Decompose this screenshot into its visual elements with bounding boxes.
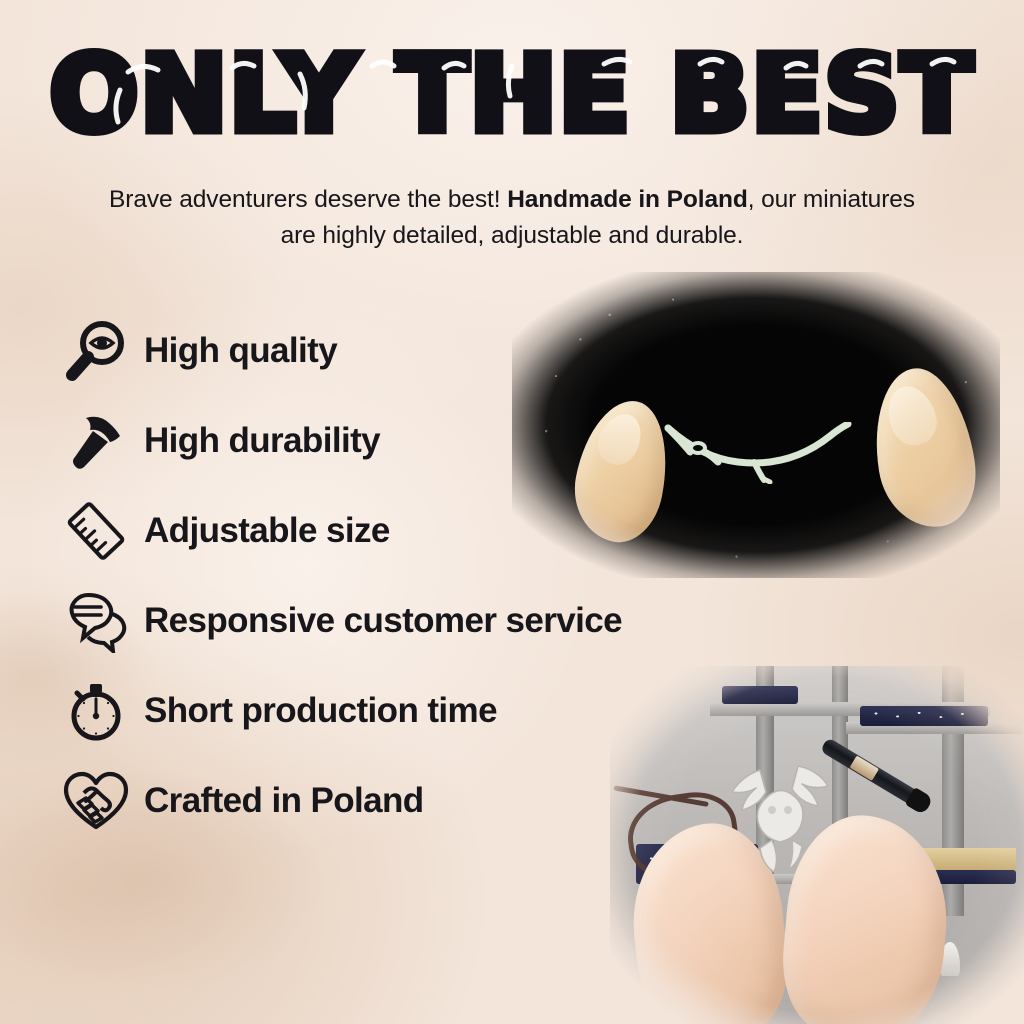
miniature-parts (864, 708, 984, 722)
flexible-miniature-part (662, 422, 894, 484)
poster-canvas: Only the best Brave adventurers deserve … (0, 0, 1024, 1024)
eyeglasses-arm (613, 785, 708, 807)
page-title-text: Only the best (50, 33, 974, 155)
feature-label: High quality (144, 331, 337, 371)
feature-label: Crafted in Poland (144, 781, 424, 821)
feature-label: High durability (144, 421, 380, 461)
ruler-icon (60, 495, 132, 567)
feature-label: Short production time (144, 691, 497, 731)
feature-item-responsive-customer-service: Responsive customer service (60, 576, 750, 666)
handshake-heart-icon (60, 765, 132, 837)
feature-label: Responsive customer service (144, 601, 622, 641)
magnifier-eye-icon (60, 315, 132, 387)
subtitle: Brave adventurers deserve the best! Hand… (96, 182, 928, 254)
painting-workshop-photo (610, 666, 1024, 1024)
page-title: Only the best (0, 38, 1024, 150)
parts-tray (722, 686, 798, 704)
subtitle-bold: Handmade in Poland (507, 186, 748, 213)
dragon-miniature (714, 752, 846, 876)
feature-label: Adjustable size (144, 511, 390, 551)
tool-ferrule (850, 756, 879, 781)
tool-tip (905, 787, 934, 815)
subtitle-lead: Brave adventurers deserve the best! (109, 186, 507, 213)
hammer-icon (60, 405, 132, 477)
flexible-miniature-photo (512, 272, 1000, 578)
speech-bubbles-icon (60, 585, 132, 657)
stopwatch-icon (60, 675, 132, 747)
